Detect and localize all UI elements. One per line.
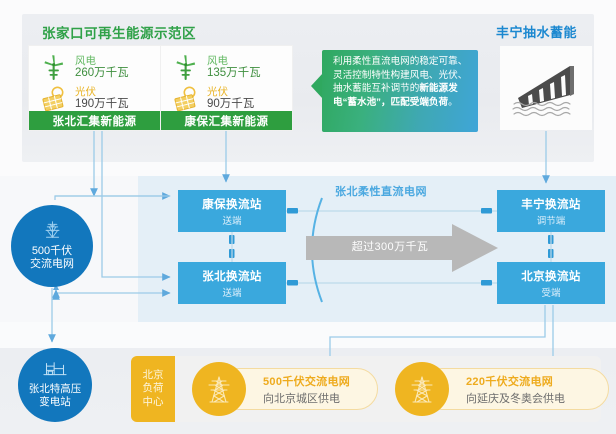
solar-row: 光伏 190万千瓦 [39, 84, 129, 114]
solar-row: 光伏 90万千瓦 [171, 84, 254, 114]
solar-panel-icon [39, 84, 69, 114]
page-title-pumped-storage: 丰宁抽水蓄能 [496, 22, 577, 41]
callout-text-part3: 。 [448, 97, 458, 108]
substation-line2: 变电站 [39, 396, 71, 409]
solar-panel-icon [171, 84, 201, 114]
solar-text: 光伏 90万千瓦 [207, 86, 254, 111]
station-name: 丰宁换流站 [521, 196, 581, 212]
wind-text: 风电 135万千瓦 [207, 55, 261, 80]
wind-turbine-icon [39, 53, 69, 83]
renewable-card-kangbao: 风电 135万千瓦 [161, 46, 292, 130]
zhangbei-uhv-substation-node[interactable]: 张北特高压 变电站 [18, 348, 92, 422]
bottom-white-strip [0, 322, 616, 348]
dc-grid-title: 张北柔性直流电网 [335, 183, 427, 199]
solar-value: 90万千瓦 [207, 98, 254, 111]
solar-label: 光伏 [75, 86, 129, 98]
feed-desc: 向延庆及冬奥会供电 [466, 390, 608, 406]
transmission-tower-icon [395, 362, 449, 416]
ac-grid-line2: 交流电网 [30, 258, 74, 271]
solar-value: 190万千瓦 [75, 98, 129, 111]
infographic-root: 张家口可再生能源示范区 丰宁抽水蓄能 张北柔性直流电网 [0, 0, 616, 434]
page-title-renewable-zone: 张家口可再生能源示范区 [42, 22, 196, 42]
renewable-card-zhangbei: 风电 260万千瓦 [29, 46, 160, 130]
substation-icon [42, 361, 68, 382]
wind-value: 135万千瓦 [207, 67, 261, 80]
wind-label: 风电 [207, 55, 261, 67]
feed-220kv-pill: 220千伏交流电网 向延庆及冬奥会供电 [421, 368, 609, 410]
ac-grid-line1: 500千伏 [32, 245, 72, 258]
station-kangbao[interactable]: 康保换流站 送端 [178, 190, 286, 232]
station-role: 送端 [222, 285, 241, 299]
feed-title: 220千伏交流电网 [466, 373, 608, 389]
station-beijing[interactable]: 北京换流站 受端 [497, 262, 605, 304]
feed-title: 500千伏交流电网 [263, 373, 377, 389]
station-role: 调节端 [537, 213, 566, 227]
pumped-storage-image [500, 46, 592, 130]
wind-row: 风电 135万千瓦 [171, 53, 261, 83]
wind-turbine-icon [171, 53, 201, 83]
station-zhangbei[interactable]: 张北换流站 送端 [178, 262, 286, 304]
station-role: 受端 [541, 285, 560, 299]
beijing-load-center-tab: 北京 负荷 中心 [131, 356, 175, 422]
station-name: 北京换流站 [521, 268, 581, 284]
wind-text: 风电 260万千瓦 [75, 55, 129, 80]
station-role: 送端 [222, 213, 241, 227]
power-flow-arrow-label: 超过300万千瓦 [330, 238, 450, 254]
renewable-card-bar-kangbao: 康保汇集新能源 [161, 111, 292, 130]
transmission-tower-icon [42, 220, 63, 243]
solar-text: 光伏 190万千瓦 [75, 86, 129, 111]
wind-row: 风电 260万千瓦 [39, 53, 129, 83]
renewable-card-bar-zhangbei: 张北汇集新能源 [29, 111, 160, 130]
station-name: 张北换流站 [202, 268, 262, 284]
substation-line1: 张北特高压 [29, 383, 82, 396]
solar-label: 光伏 [207, 86, 254, 98]
station-fengning[interactable]: 丰宁换流站 调节端 [497, 190, 605, 232]
wind-value: 260万千瓦 [75, 67, 129, 80]
transmission-tower-icon [192, 362, 246, 416]
ac-grid-500kv-node[interactable]: 500千伏 交流电网 [11, 205, 93, 287]
wind-label: 风电 [75, 55, 129, 67]
feed-desc: 向北京城区供电 [263, 390, 377, 406]
station-name: 康保换流站 [202, 196, 262, 212]
callout-description: 利用柔性直流电网的稳定可靠、灵活控制特性构建风电、光伏、抽水蓄能互补调节的新能源… [322, 50, 478, 132]
